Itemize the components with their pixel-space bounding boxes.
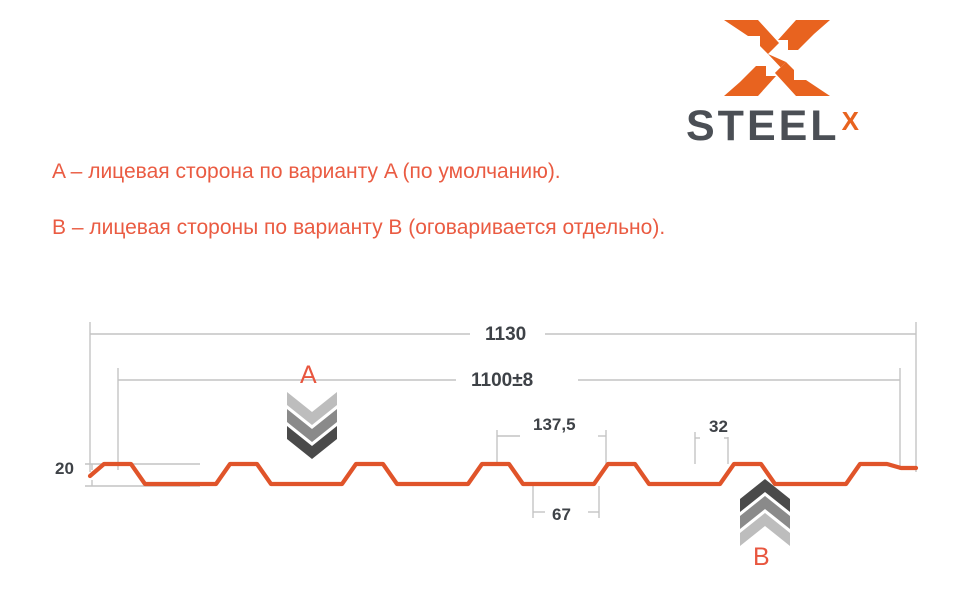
profile-technical-drawing [0, 0, 970, 597]
marker-label-b: B [753, 543, 770, 572]
dimension-label-wave-pitch: 137,5 [526, 415, 583, 435]
dimension-label-useful-width: 1100±8 [464, 370, 540, 392]
dimension-label-valley-width: 67 [545, 505, 578, 525]
marker-b-chevrons [740, 479, 790, 546]
corrugated-profile-line [90, 464, 916, 484]
dimension-label-rib-height: 20 [48, 459, 81, 479]
marker-a-chevrons [287, 392, 337, 459]
marker-label-a: A [300, 361, 317, 390]
dimension-wave-pitch [497, 430, 606, 466]
dimension-label-rib-top-width: 32 [702, 417, 735, 437]
dimension-label-total-width: 1130 [478, 324, 533, 346]
